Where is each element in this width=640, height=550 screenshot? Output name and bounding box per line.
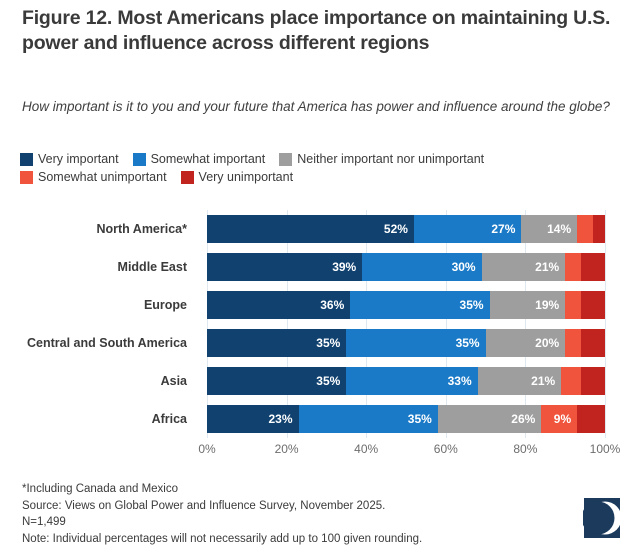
bar-rows: North America*52%27%14%Middle East39%30%… — [0, 210, 640, 438]
row-category-label: Europe — [0, 286, 197, 324]
bar-segment-label: 35% — [460, 298, 490, 312]
bar-segment[interactable] — [577, 215, 593, 243]
x-axis-tick-label: 80% — [513, 442, 537, 456]
bar-segment[interactable] — [581, 367, 605, 395]
bar-segment[interactable]: 52% — [207, 215, 414, 243]
legend-swatch-somewhat-unimportant — [20, 171, 33, 184]
bar-segment[interactable] — [565, 253, 581, 281]
legend-item[interactable]: Very important — [20, 152, 119, 166]
row-category-label: Middle East — [0, 248, 197, 286]
bar-segment[interactable] — [577, 405, 605, 433]
bar-segment[interactable] — [581, 291, 605, 319]
bar-segment-label: 35% — [316, 374, 346, 388]
x-axis-tick-label: 100% — [590, 442, 621, 456]
bar-segment-label: 33% — [448, 374, 478, 388]
bar-segment-label: 14% — [547, 222, 577, 236]
bar-segment-label: 21% — [531, 374, 561, 388]
footnote-line: Note: Individual percentages will not ne… — [22, 531, 542, 548]
bar-segment[interactable]: 35% — [350, 291, 489, 319]
bar-segment[interactable]: 21% — [478, 367, 562, 395]
footnote-line: N=1,499 — [22, 514, 542, 531]
bar-segment[interactable]: 35% — [346, 329, 485, 357]
bar-segment-label: 39% — [332, 260, 362, 274]
bar-segment[interactable] — [581, 329, 605, 357]
bar-segment[interactable] — [581, 253, 605, 281]
bar-segment[interactable]: 27% — [414, 215, 521, 243]
row-category-label: Africa — [0, 400, 197, 438]
legend-item-label: Somewhat important — [151, 152, 266, 166]
chart-row: Europe36%35%19% — [0, 286, 640, 324]
chart-row: North America*52%27%14% — [0, 210, 640, 248]
legend-swatch-very-important — [20, 153, 33, 166]
chart-legend: Very importantSomewhat importantNeither … — [20, 152, 620, 188]
x-axis-tick-label: 0% — [198, 442, 215, 456]
bar-segment[interactable] — [565, 291, 581, 319]
chart-area: North America*52%27%14%Middle East39%30%… — [0, 210, 640, 455]
bar-segment-label: 30% — [452, 260, 482, 274]
bar-segment[interactable]: 36% — [207, 291, 350, 319]
bar-segment[interactable]: 26% — [438, 405, 541, 433]
legend-item[interactable]: Neither important nor unimportant — [279, 152, 484, 166]
legend-item[interactable]: Somewhat unimportant — [20, 170, 167, 184]
x-axis-tick-label: 40% — [354, 442, 378, 456]
legend-row: Very importantSomewhat importantNeither … — [20, 152, 620, 166]
chart-row: Central and South America35%35%20% — [0, 324, 640, 362]
bar-segment-label: 23% — [269, 412, 299, 426]
row-category-label: North America* — [0, 210, 197, 248]
bar-segment-label: 20% — [535, 336, 565, 350]
stacked-bar: 52%27%14% — [207, 215, 605, 243]
bar-segment[interactable] — [565, 329, 581, 357]
figure-page: Figure 12. Most Americans place importan… — [0, 0, 640, 550]
chart-row: Middle East39%30%21% — [0, 248, 640, 286]
bar-segment-label: 21% — [535, 260, 565, 274]
page-title: Figure 12. Most Americans place importan… — [22, 6, 622, 56]
chart-row: Africa23%35%26%9% — [0, 400, 640, 438]
bar-segment[interactable]: 35% — [299, 405, 438, 433]
bar-segment[interactable]: 35% — [207, 329, 346, 357]
bar-segment-label: 35% — [456, 336, 486, 350]
bar-segment[interactable]: 14% — [521, 215, 577, 243]
legend-row: Somewhat unimportantVery unimportant — [20, 170, 620, 184]
bar-segment[interactable]: 9% — [541, 405, 577, 433]
legend-swatch-very-unimportant — [181, 171, 194, 184]
legend-item[interactable]: Very unimportant — [181, 170, 294, 184]
footnotes: *Including Canada and MexicoSource: View… — [22, 481, 542, 547]
stacked-bar: 39%30%21% — [207, 253, 605, 281]
stacked-bar: 23%35%26%9% — [207, 405, 605, 433]
bar-segment[interactable] — [593, 215, 605, 243]
stacked-bar: 35%33%21% — [207, 367, 605, 395]
legend-item-label: Somewhat unimportant — [38, 170, 167, 184]
bar-segment-label: 52% — [384, 222, 414, 236]
legend-item-label: Very important — [38, 152, 119, 166]
chart-row: Asia35%33%21% — [0, 362, 640, 400]
bar-segment[interactable]: 39% — [207, 253, 362, 281]
bar-segment[interactable]: 20% — [486, 329, 566, 357]
bar-segment[interactable] — [561, 367, 581, 395]
bar-segment-label: 27% — [491, 222, 521, 236]
bar-segment-label: 26% — [511, 412, 541, 426]
x-axis: 0%20%40%60%80%100% — [207, 442, 605, 460]
bar-segment[interactable]: 19% — [490, 291, 566, 319]
legend-swatch-somewhat-important — [133, 153, 146, 166]
legend-item-label: Neither important nor unimportant — [297, 152, 484, 166]
bar-segment[interactable]: 33% — [346, 367, 477, 395]
bar-segment-label: 19% — [535, 298, 565, 312]
stacked-bar: 35%35%20% — [207, 329, 605, 357]
legend-swatch-neither — [279, 153, 292, 166]
bar-segment[interactable]: 21% — [482, 253, 566, 281]
footnote-line: *Including Canada and Mexico — [22, 481, 542, 498]
bar-segment-label: 35% — [316, 336, 346, 350]
bar-segment[interactable]: 30% — [362, 253, 481, 281]
x-axis-tick-label: 60% — [434, 442, 458, 456]
row-category-label: Asia — [0, 362, 197, 400]
footnote-line: Source: Views on Global Power and Influe… — [22, 498, 542, 515]
legend-item-label: Very unimportant — [199, 170, 294, 184]
bar-segment-label: 35% — [408, 412, 438, 426]
figure-subtitle: How important is it to you and your futu… — [22, 97, 627, 116]
bar-segment-label: 36% — [320, 298, 350, 312]
legend-item[interactable]: Somewhat important — [133, 152, 266, 166]
bar-segment-label: 9% — [554, 412, 577, 426]
x-axis-tick-label: 20% — [275, 442, 299, 456]
bar-segment[interactable]: 23% — [207, 405, 299, 433]
publisher-logo — [583, 497, 621, 539]
row-category-label: Central and South America — [0, 324, 197, 362]
bar-segment[interactable]: 35% — [207, 367, 346, 395]
stacked-bar: 36%35%19% — [207, 291, 605, 319]
